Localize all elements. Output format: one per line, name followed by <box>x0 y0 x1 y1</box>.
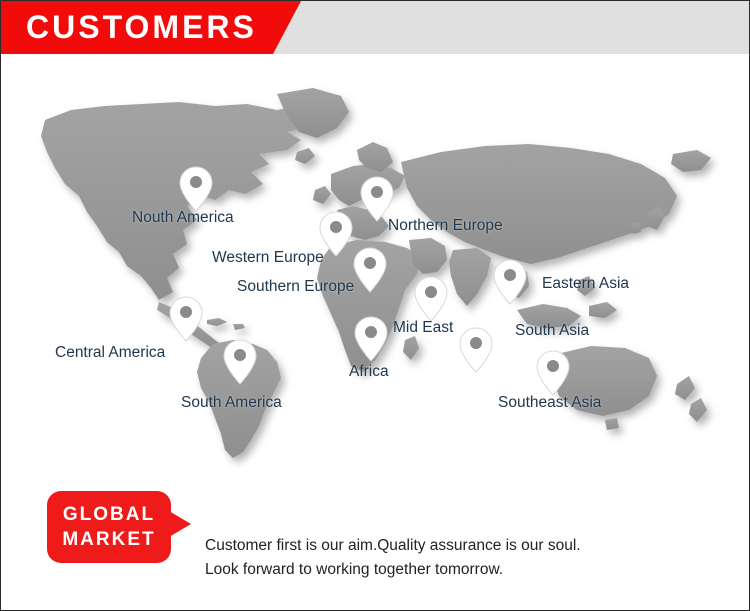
page-title: CUSTOMERS <box>26 9 257 46</box>
map-pin-mid-east[interactable] <box>414 276 448 322</box>
header-banner: CUSTOMERS <box>1 1 749 54</box>
region-label-southeast-asia: Southeast Asia <box>498 394 601 412</box>
world-map: Nouth America Western Europe Southern Eu… <box>1 54 749 474</box>
region-label-africa: Africa <box>349 363 389 381</box>
tagline: Customer first is our aim.Quality assura… <box>205 534 581 582</box>
tagline-line-2: Look forward to working together tomorro… <box>205 558 581 582</box>
region-label-south-america: South America <box>181 394 282 412</box>
footer-section: GLOBAL MARKET Customer first is our aim.… <box>1 474 749 610</box>
global-market-badge: GLOBAL MARKET <box>47 491 171 563</box>
map-pin-southern-europe[interactable] <box>353 247 387 293</box>
map-pin-africa[interactable] <box>354 316 388 362</box>
badge-arrow-icon <box>169 511 191 537</box>
map-pin-north-america[interactable] <box>179 166 213 212</box>
map-pin-south-america[interactable] <box>223 339 257 385</box>
map-pin-eastern-asia[interactable] <box>493 259 527 305</box>
map-pin-south-asia[interactable] <box>459 327 493 373</box>
region-label-northern-europe: Northern Europe <box>388 217 503 235</box>
map-pin-western-europe[interactable] <box>319 211 353 257</box>
region-label-nouth-america: Nouth America <box>132 209 234 227</box>
badge-line-global: GLOBAL <box>63 502 155 527</box>
badge-line-market: MARKET <box>62 527 155 552</box>
region-label-southern-europe: Southern Europe <box>237 278 354 296</box>
tagline-line-1: Customer first is our aim.Quality assura… <box>205 534 581 558</box>
map-pin-northern-europe[interactable] <box>360 176 394 222</box>
map-pin-southeast-asia[interactable] <box>536 350 570 396</box>
region-label-mid-east: Mid East <box>393 319 453 337</box>
region-label-central-america: Central America <box>55 344 165 362</box>
region-label-western-europe: Western Europe <box>212 249 324 267</box>
map-pin-central-america[interactable] <box>169 296 203 342</box>
region-label-eastern-asia: Eastern Asia <box>542 275 629 293</box>
region-label-south-asia: South Asia <box>515 322 589 340</box>
